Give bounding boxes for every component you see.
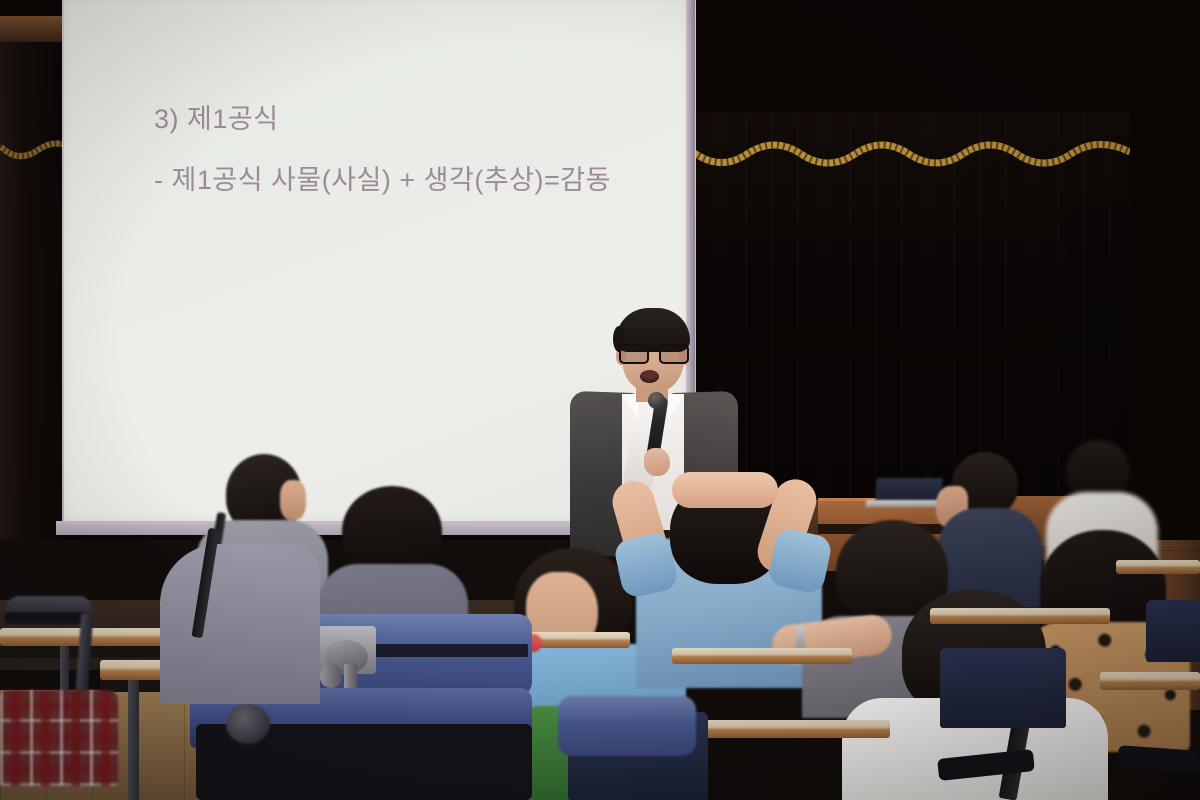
desk-right-front bbox=[1100, 672, 1200, 690]
slide-line-1: 3) 제1공식 bbox=[154, 100, 754, 139]
wheelchair-knob bbox=[226, 704, 270, 744]
desk-center-right bbox=[672, 648, 852, 664]
chair-back-far-right[interactable] bbox=[1146, 600, 1200, 662]
plaid-bag bbox=[0, 690, 118, 786]
stage-curtain-left bbox=[0, 16, 70, 540]
chair-back-right[interactable] bbox=[940, 648, 1066, 728]
wheelchair-handle-far-right bbox=[1117, 745, 1200, 773]
presenter-mouth bbox=[640, 370, 659, 383]
desk-front-center bbox=[700, 720, 890, 738]
desk-far-right bbox=[1116, 560, 1200, 574]
desk-right-back bbox=[930, 608, 1110, 624]
wheelchair-headrest-right bbox=[558, 696, 696, 756]
slide-text-block: 3) 제1공식 - 제1공식 사물(사실) + 생각(추상)=감동 bbox=[154, 100, 754, 200]
desk-leg bbox=[128, 680, 139, 800]
curtain-gold-trim bbox=[693, 138, 1130, 172]
presenter-collar-right bbox=[668, 394, 684, 420]
lecture-hall-photo: 3) 제1공식 - 제1공식 사물(사실) + 생각(추상)=감동 bbox=[0, 0, 1200, 800]
wheelchair-mount-tube bbox=[320, 664, 342, 688]
audience-foreground-gray-tee bbox=[160, 520, 320, 700]
curtain-gold-trim-left bbox=[0, 140, 70, 170]
slide-line-2: - 제1공식 사물(사실) + 생각(추상)=감동 bbox=[154, 161, 754, 200]
wheelchair-bar-left bbox=[4, 612, 86, 624]
glasses-icon bbox=[618, 344, 688, 361]
